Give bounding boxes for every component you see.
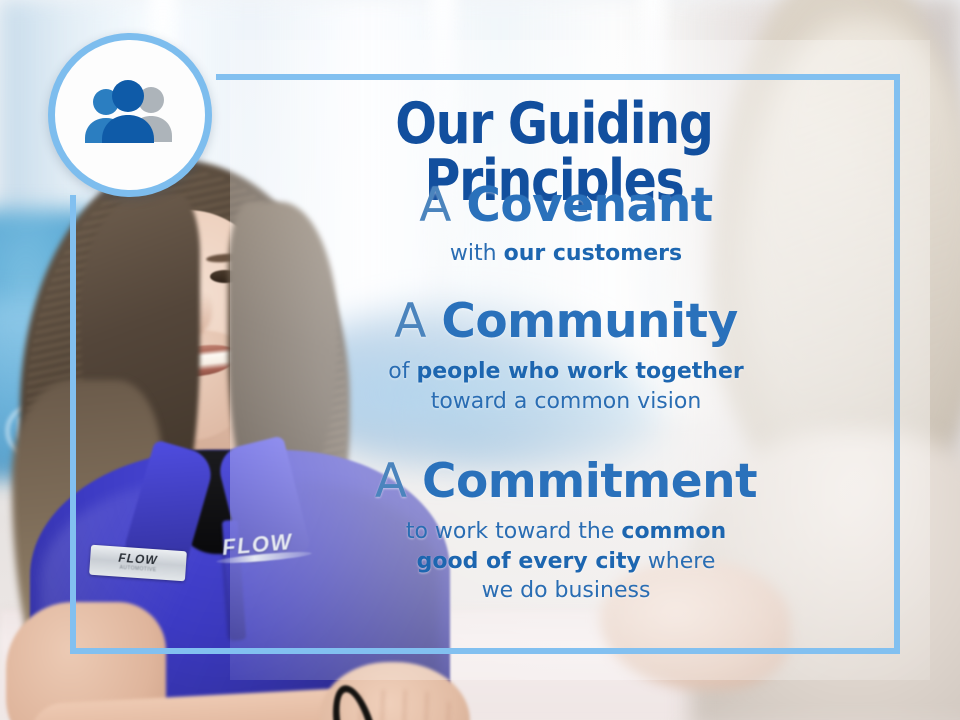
principle-article: A [419,178,451,233]
principle-line: good of every city where [246,547,886,577]
frame-border-left [70,195,76,654]
principle-line: of people who work together [246,357,886,387]
people-group-badge [48,33,212,197]
principle-line: toward a common vision [246,387,886,417]
emphasis-text: people who work together [416,359,743,384]
emphasis-text: our customers [504,241,683,266]
plain-text: to work toward the [406,519,622,544]
people-group-icon [78,79,182,151]
principle-block-commitment: A Commitment to work toward the commongo… [246,458,886,606]
poster: FLOW FLOW AUTOMOTIVE [0,0,960,720]
principle-description-covenant: with our customers [246,239,886,269]
principle-block-community: A Community of people who work togethert… [246,298,886,416]
principle-article: A [394,294,426,349]
emphasis-text: common [621,519,726,544]
principle-article: A [375,454,407,509]
plain-text: we do business [482,578,651,603]
frame-border-top [216,74,900,80]
plain-text: of [388,359,416,384]
principle-line: to work toward the common [246,517,886,547]
plain-text: where [641,549,716,574]
frame-border-right [894,74,900,654]
principle-line: with our customers [246,239,886,269]
principle-description-community: of people who work togethertoward a comm… [246,357,886,416]
plain-text: toward a common vision [431,389,702,414]
principle-block-covenant: A Covenant with our customers [246,182,886,269]
principle-description-commitment: to work toward the commongood of every c… [246,517,886,606]
principle-heading-commitment: A Commitment [246,458,886,507]
frame-border-bottom [70,648,900,654]
principle-heading-community: A Community [246,298,886,347]
principle-keyword: Commitment [422,454,757,509]
emphasis-text: good of every city [417,549,641,574]
principle-keyword: Community [441,294,737,349]
principle-heading-covenant: A Covenant [246,182,886,231]
plain-text: with [450,241,504,266]
principle-line: we do business [246,576,886,606]
principle-keyword: Covenant [466,178,712,233]
